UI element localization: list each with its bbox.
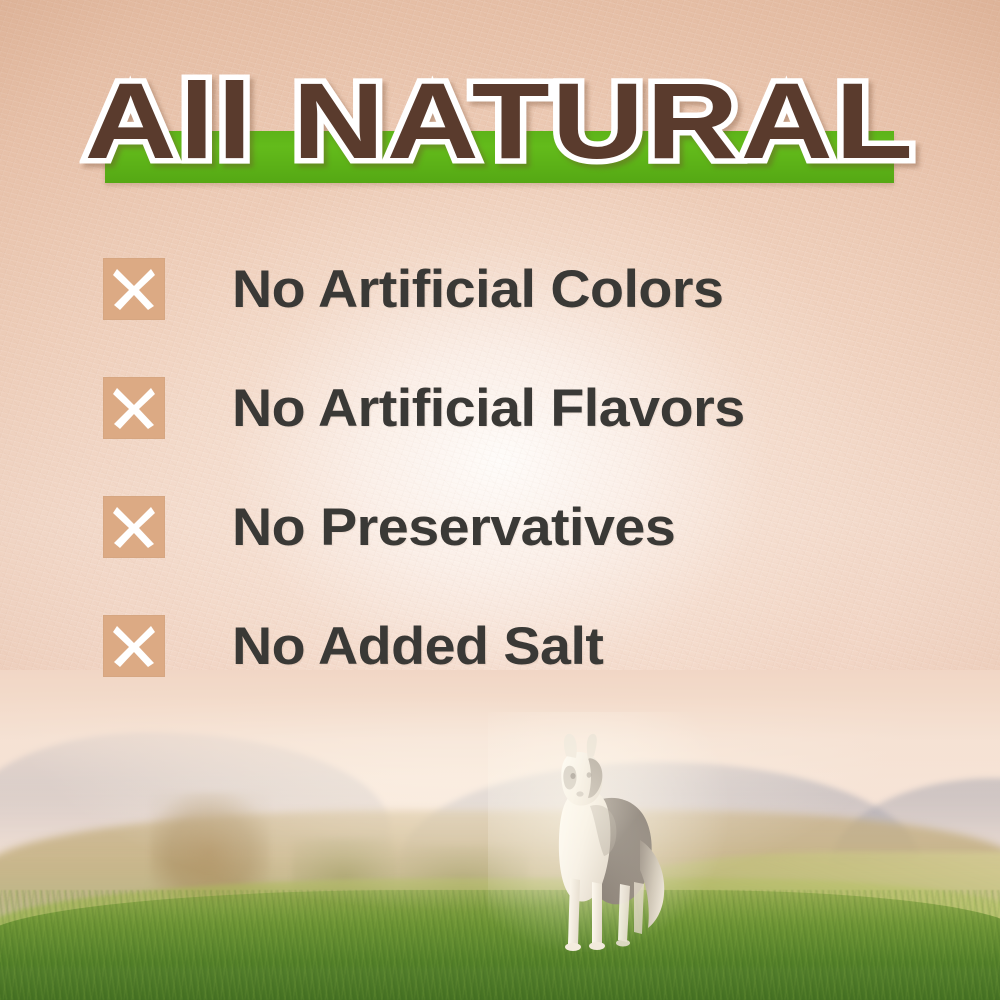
list-item-label: No Preservatives bbox=[232, 497, 675, 558]
list-item-label: No Added Salt bbox=[232, 616, 603, 677]
list-item: No Preservatives bbox=[103, 496, 923, 558]
x-mark-icon bbox=[103, 377, 165, 439]
x-mark-icon bbox=[103, 615, 165, 677]
benefits-list: No Artificial Colors No Artificial Flavo… bbox=[103, 258, 923, 677]
border-collie-dog bbox=[528, 732, 688, 962]
all-natural-poster: All NATURAL No Artificial Colors No Arti… bbox=[0, 0, 1000, 1000]
list-item: No Artificial Flavors bbox=[103, 377, 923, 439]
photo-top-fade bbox=[0, 670, 1000, 820]
list-item: No Added Salt bbox=[103, 615, 923, 677]
x-mark-icon bbox=[103, 496, 165, 558]
list-item-label: No Artificial Flavors bbox=[232, 378, 745, 439]
headline-block: All NATURAL bbox=[0, 62, 1000, 202]
x-mark-icon bbox=[103, 258, 165, 320]
landscape-photo bbox=[0, 670, 1000, 1000]
list-item: No Artificial Colors bbox=[103, 258, 923, 320]
list-item-label: No Artificial Colors bbox=[232, 259, 723, 320]
page-title: All NATURAL bbox=[0, 62, 1000, 180]
